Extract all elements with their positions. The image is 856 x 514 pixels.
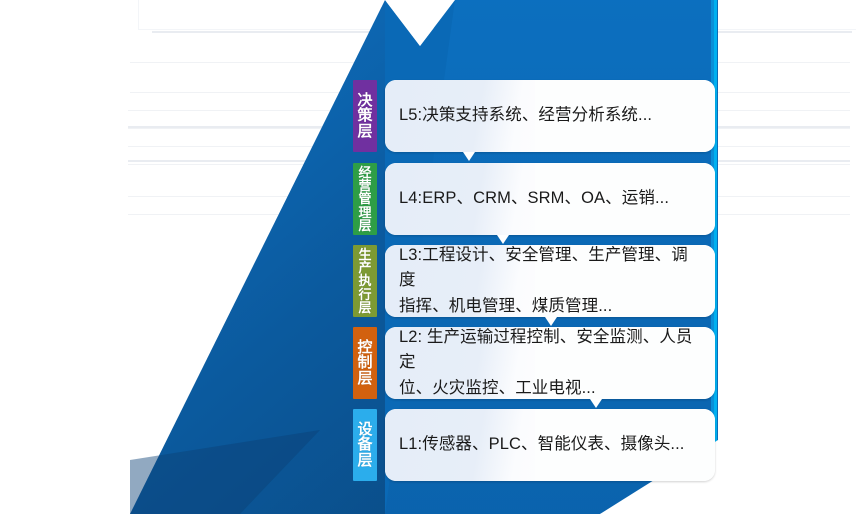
level-tab-char: 执 [358, 274, 371, 287]
level-card-l4[interactable]: L4:ERP、CRM、SRM、OA、运销... [385, 163, 715, 235]
level-tab-l4[interactable]: 经 营 管 理 层 [353, 163, 377, 235]
flow-chevron-icon [545, 317, 558, 326]
level-card-l1[interactable]: L1:传感器、PLC、智能仪表、摄像头... [385, 409, 715, 481]
level-row-l5[interactable]: 决 策 层 L5:决策支持系统、经营分析系统... [353, 80, 715, 152]
diagram-canvas: 决 策 层 L5:决策支持系统、经营分析系统... 经 营 管 理 层 [0, 0, 856, 514]
level-tab-char: 理 [358, 206, 371, 219]
level-card-l2[interactable]: L2: 生产运输过程控制、安全监测、人员定 位、火灾监控、工业电视... [385, 327, 715, 399]
level-tab-l5[interactable]: 决 策 层 [353, 80, 377, 152]
level-tab-char: 层 [358, 301, 371, 314]
level-card-l5[interactable]: L5:决策支持系统、经营分析系统... [385, 80, 715, 152]
level-row-l3[interactable]: 生 产 执 行 层 L3:工程设计、安全管理、生产管理、调度 指挥、机电管理、煤… [353, 245, 715, 317]
level-text-l1: L1:传感器、PLC、智能仪表、摄像头... [385, 409, 715, 481]
level-text-l4: L4:ERP、CRM、SRM、OA、运销... [385, 163, 715, 235]
level-text-l3: L3:工程设计、安全管理、生产管理、调度 指挥、机电管理、煤质管理... [385, 245, 715, 317]
level-text-l2: L2: 生产运输过程控制、安全监测、人员定 位、火灾监控、工业电视... [385, 327, 715, 399]
level-tab-l2[interactable]: 控 制 层 [353, 327, 377, 399]
level-tab-l3[interactable]: 生 产 执 行 层 [353, 245, 377, 317]
flow-chevron-icon [590, 399, 603, 408]
level-tab-char: 层 [357, 124, 372, 139]
level-tab-char: 层 [357, 371, 372, 386]
level-row-l2[interactable]: 控 制 层 L2: 生产运输过程控制、安全监测、人员定 位、火灾监控、工业电视.… [353, 327, 715, 399]
level-tab-char: 制 [357, 355, 372, 370]
level-text-l5: L5:决策支持系统、经营分析系统... [385, 80, 715, 152]
level-card-l3[interactable]: L3:工程设计、安全管理、生产管理、调度 指挥、机电管理、煤质管理... [385, 245, 715, 317]
level-tab-char: 管 [358, 192, 371, 205]
level-row-l1[interactable]: 设 备 层 L1:传感器、PLC、智能仪表、摄像头... [353, 409, 715, 481]
level-rows: 决 策 层 L5:决策支持系统、经营分析系统... 经 营 管 理 层 [0, 0, 856, 514]
flow-chevron-icon [463, 152, 476, 161]
level-tab-char: 层 [358, 219, 371, 232]
level-tab-char: 行 [358, 288, 371, 301]
level-row-l4[interactable]: 经 营 管 理 层 L4:ERP、CRM、SRM、OA、运销... [353, 163, 715, 235]
level-tab-char: 备 [357, 437, 372, 452]
flow-chevron-icon [497, 235, 510, 244]
level-tab-char: 层 [357, 453, 372, 468]
level-tab-char: 策 [357, 108, 372, 123]
level-tab-l1[interactable]: 设 备 层 [353, 409, 377, 481]
